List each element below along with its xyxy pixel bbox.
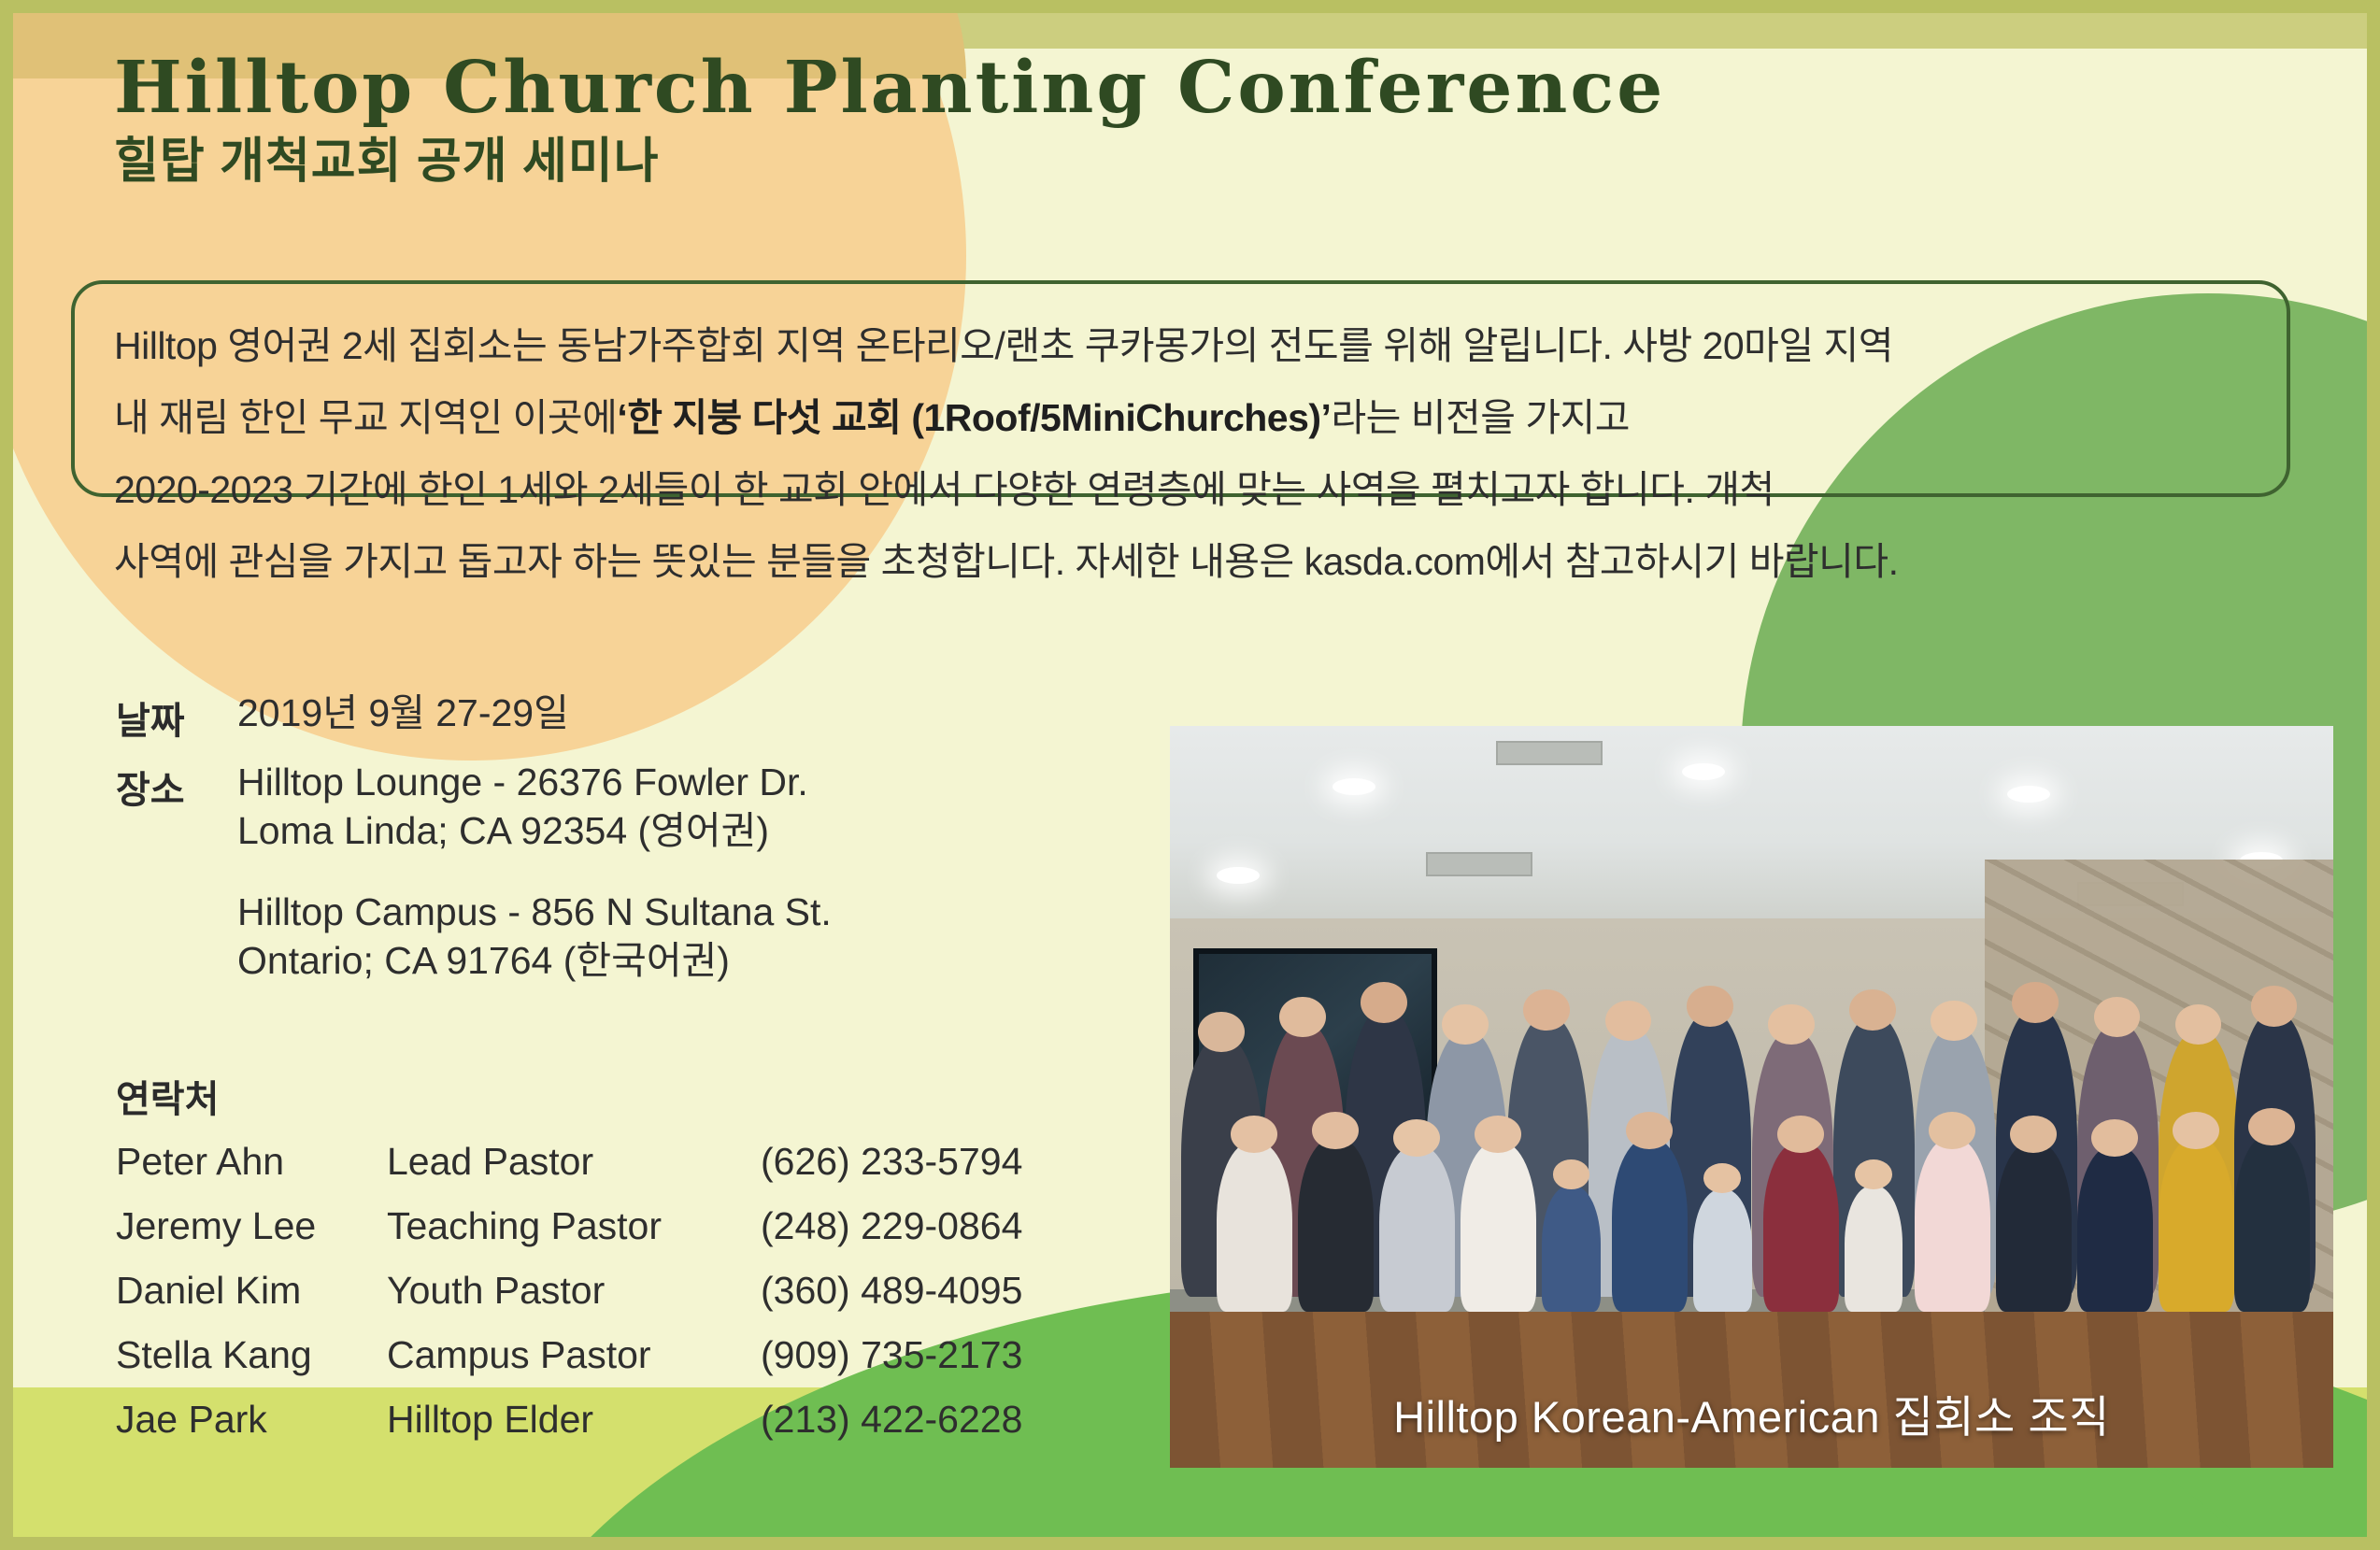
photo-child <box>1542 1186 1600 1312</box>
detail-place-line-4: Ontario; CA 91764 (한국어권) <box>237 938 832 983</box>
contacts-section: 연락처 Peter Ahn Lead Pastor (626) 233-5794… <box>116 1069 1022 1462</box>
contact-role: Youth Pastor <box>387 1269 761 1333</box>
photo-person-head <box>2248 1108 2295 1145</box>
photo-person-head <box>1442 1004 1489 1045</box>
contact-role: Hilltop Elder <box>387 1398 761 1462</box>
contact-name: Peter Ahn <box>116 1140 387 1204</box>
description-line-3: 2020-2023 기간에 한인 1세와 2세들이 한 교회 안에서 다양한 연… <box>114 454 2273 526</box>
photo-person <box>1915 1138 1990 1313</box>
photo-person <box>2077 1145 2153 1313</box>
photo-person-head <box>1768 1004 1815 1045</box>
photo-person <box>1217 1142 1292 1313</box>
photo-ceiling-light-icon <box>2007 786 2050 803</box>
description-line-1: Hilltop 영어권 2세 집회소는 동남가주합회 지역 온타리오/랜초 쿠카… <box>114 310 2273 382</box>
photo-ceiling-light-icon <box>1333 778 1375 795</box>
contact-phone[interactable]: (626) 233-5794 <box>761 1140 1022 1204</box>
table-row: Jae Park Hilltop Elder (213) 422-6228 <box>116 1398 1022 1462</box>
photo-person-head <box>1393 1119 1440 1157</box>
detail-label-date: 날짜 <box>116 690 237 745</box>
photo-person-head <box>2012 982 2059 1023</box>
photo-person <box>1612 1138 1688 1313</box>
poster-canvas: Hilltop Church Planting Conference 힐탑 개척… <box>0 0 2380 1550</box>
photo-person-head <box>1523 989 1570 1031</box>
photo-person-head <box>1931 1001 1977 1042</box>
detail-label-place: 장소 <box>116 760 237 814</box>
contact-phone[interactable]: (360) 489-4095 <box>761 1269 1022 1333</box>
description-line-2: 내 재림 한인 무교 지역인 이곳에‘한 지붕 다섯 교회 (1Roof/5Mi… <box>114 382 2273 454</box>
photo-person-head <box>1475 1116 1521 1153</box>
photo-person-head <box>2251 986 2298 1027</box>
photo-ceiling-vent <box>1496 741 1603 765</box>
photo-ceiling-light-icon <box>1217 867 1260 884</box>
page-title-english: Hilltop Church Planting Conference <box>114 50 1665 126</box>
photo-person <box>1379 1145 1455 1313</box>
contacts-table: Peter Ahn Lead Pastor (626) 233-5794 Jer… <box>116 1140 1022 1462</box>
photo-person-head <box>1312 1112 1359 1149</box>
description-text: Hilltop 영어권 2세 집회소는 동남가주합회 지역 온타리오/랜초 쿠카… <box>114 310 2273 598</box>
contacts-table-body: Peter Ahn Lead Pastor (626) 233-5794 Jer… <box>116 1140 1022 1462</box>
contact-role: Campus Pastor <box>387 1333 761 1398</box>
photo-ceiling-vent <box>1426 852 1532 876</box>
contact-phone[interactable]: (248) 229-0864 <box>761 1204 1022 1269</box>
description-line-4-text: 사역에 관심을 가지고 돕고자 하는 뜻있는 분들을 초청합니다. 자세한 내용… <box>114 540 1898 583</box>
contact-name: Daniel Kim <box>116 1269 387 1333</box>
photo-person <box>1996 1142 2072 1313</box>
detail-place-line-3: Hilltop Campus - 856 N Sultana St. <box>237 889 832 934</box>
poster-header: Hilltop Church Planting Conference 힐탑 개척… <box>114 50 1665 192</box>
photo-person <box>2159 1138 2234 1313</box>
photo-person-head <box>1929 1112 1975 1149</box>
detail-values-date: 2019년 9월 27-29일 <box>237 690 569 739</box>
photo-person <box>1461 1142 1536 1313</box>
photo-ceiling-light-icon <box>1682 763 1725 780</box>
contact-role: Lead Pastor <box>387 1140 761 1204</box>
table-row: Daniel Kim Youth Pastor (360) 489-4095 <box>116 1269 1022 1333</box>
detail-row-date: 날짜 2019년 9월 27-29일 <box>116 690 832 745</box>
description-line-2-suffix: 라는 비전을 가지고 <box>1331 396 1630 439</box>
photo-person-head <box>1361 982 1407 1023</box>
photo-person-head <box>1777 1116 1824 1153</box>
detail-values-place: Hilltop Lounge - 26376 Fowler Dr. Loma L… <box>237 760 832 988</box>
photo-crowd-region <box>1170 971 2333 1342</box>
photo-person-head <box>1687 986 1733 1027</box>
poster-inner-canvas: Hilltop Church Planting Conference 힐탑 개척… <box>13 13 2367 1537</box>
contact-name: Jae Park <box>116 1398 387 1462</box>
photo-person-head <box>2010 1116 2057 1153</box>
table-row: Peter Ahn Lead Pastor (626) 233-5794 <box>116 1140 1022 1204</box>
detail-place-line-2: Loma Linda; CA 92354 (영어권) <box>237 808 832 853</box>
detail-date-value: 2019년 9월 27-29일 <box>237 690 569 735</box>
description-vision-phrase: ‘한 지붕 다섯 교회 (1Roof/5MiniChurches)’ <box>617 396 1331 439</box>
group-photo: Hilltop Korean-American 집회소 조직 <box>1170 726 2333 1468</box>
photo-person-head <box>2091 1119 2138 1157</box>
photo-person-head <box>1231 1116 1277 1153</box>
photo-person-head <box>1279 997 1326 1038</box>
photo-person-head <box>1849 989 1896 1031</box>
page-title-korean: 힐탑 개척교회 공개 세미나 <box>114 132 1665 192</box>
photo-person-head <box>1626 1112 1673 1149</box>
photo-person <box>1298 1138 1374 1313</box>
contact-role: Teaching Pastor <box>387 1204 761 1269</box>
description-line-1-text: Hilltop 영어권 2세 집회소는 동남가주합회 지역 온타리오/랜초 쿠카… <box>114 324 1893 367</box>
detail-place-line-1: Hilltop Lounge - 26376 Fowler Dr. <box>237 760 832 804</box>
description-line-4: 사역에 관심을 가지고 돕고자 하는 뜻있는 분들을 초청합니다. 자세한 내용… <box>114 526 2273 598</box>
description-line-2-prefix: 내 재림 한인 무교 지역인 이곳에 <box>114 396 617 439</box>
photo-person-head <box>1198 1012 1245 1053</box>
event-details: 날짜 2019년 9월 27-29일 장소 Hilltop Lounge - 2… <box>116 690 832 1003</box>
table-row: Stella Kang Campus Pastor (909) 735-2173 <box>116 1333 1022 1398</box>
detail-row-place: 장소 Hilltop Lounge - 26376 Fowler Dr. Lom… <box>116 760 832 988</box>
detail-place-spacer <box>237 858 832 886</box>
photo-caption: Hilltop Korean-American 집회소 조직 <box>1170 1381 2333 1445</box>
photo-person <box>2234 1134 2310 1313</box>
photo-child <box>1693 1189 1751 1312</box>
contact-name: Stella Kang <box>116 1333 387 1398</box>
photo-person <box>1763 1142 1839 1313</box>
contact-phone[interactable]: (213) 422-6228 <box>761 1398 1022 1462</box>
description-line-3-text: 2020-2023 기간에 한인 1세와 2세들이 한 교회 안에서 다양한 연… <box>114 468 1774 511</box>
contact-name: Jeremy Lee <box>116 1204 387 1269</box>
photo-child <box>1845 1186 1903 1312</box>
photo-person-head <box>2173 1112 2219 1149</box>
contacts-title: 연락처 <box>116 1069 1022 1123</box>
contact-phone[interactable]: (909) 735-2173 <box>761 1333 1022 1398</box>
table-row: Jeremy Lee Teaching Pastor (248) 229-086… <box>116 1204 1022 1269</box>
